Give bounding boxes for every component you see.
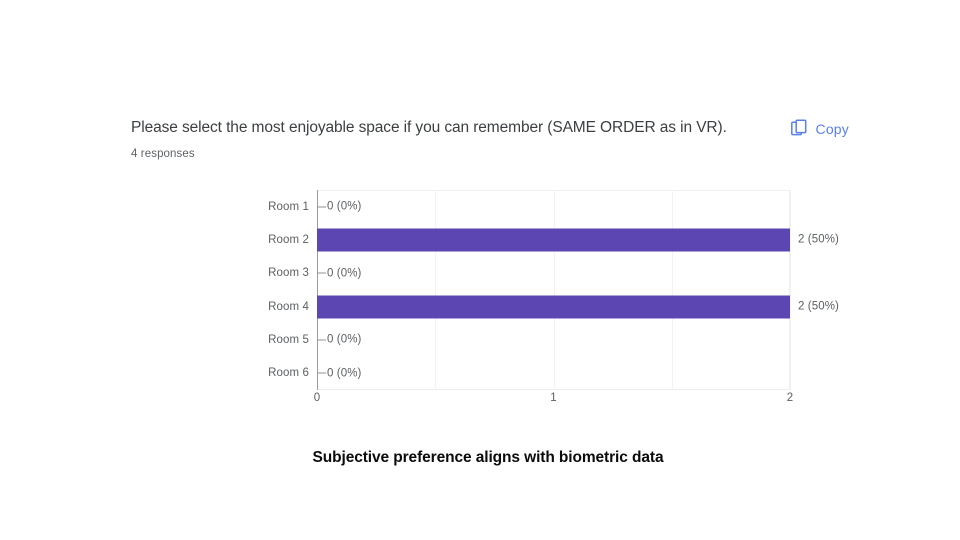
bar-row: Room 22 (50%)	[255, 223, 855, 256]
bar-row: Room 42 (50%)	[255, 290, 855, 323]
bar-value-label: 0 (0%)	[327, 201, 361, 213]
bar-row: Room 50 (0%)	[255, 323, 855, 356]
bar-value-label: 2 (50%)	[798, 234, 839, 246]
copy-icon	[791, 119, 809, 138]
question-title: Please select the most enjoyable space i…	[131, 118, 727, 138]
bar-track: 2 (50%)	[317, 228, 839, 251]
bar-rows: Room 10 (0%)Room 22 (50%)Room 30 (0%)Roo…	[255, 190, 855, 390]
bar-category-label: Room 2	[255, 234, 309, 246]
bar-value-label: 0 (0%)	[327, 367, 361, 379]
bar[interactable]	[317, 228, 790, 251]
bar-row: Room 60 (0%)	[255, 357, 855, 390]
bar-value-label: 0 (0%)	[327, 334, 361, 346]
chart-plot-area: Room 10 (0%)Room 22 (50%)Room 30 (0%)Roo…	[255, 190, 855, 390]
bar-value-label: 2 (50%)	[798, 301, 839, 313]
bar-category-label: Room 5	[255, 334, 309, 346]
bar-track: 0 (0%)	[317, 362, 361, 385]
question-header-row: Please select the most enjoyable space i…	[131, 118, 849, 138]
bar-zero-tick	[317, 273, 326, 274]
responses-count: 4 responses	[131, 148, 849, 160]
bar-category-label: Room 3	[255, 267, 309, 279]
bar-zero-tick	[317, 339, 326, 340]
x-axis-tick-label: 2	[787, 392, 793, 404]
x-axis-tick-label: 1	[550, 392, 556, 404]
bar-track: 0 (0%)	[317, 262, 361, 285]
x-axis-ticks: 012	[255, 392, 855, 410]
slide-caption: Subjective preference aligns with biomet…	[288, 446, 688, 469]
bar-row: Room 10 (0%)	[255, 190, 855, 223]
bar-track: 0 (0%)	[317, 195, 361, 218]
bar-chart: Room 10 (0%)Room 22 (50%)Room 30 (0%)Roo…	[255, 190, 855, 410]
copy-button[interactable]: Copy	[791, 119, 849, 138]
bar-value-label: 0 (0%)	[327, 267, 361, 279]
bar-category-label: Room 6	[255, 367, 309, 379]
bar-track: 0 (0%)	[317, 328, 361, 351]
bar[interactable]	[317, 295, 790, 318]
bar-track: 2 (50%)	[317, 295, 839, 318]
bar-category-label: Room 4	[255, 301, 309, 313]
question-block: Please select the most enjoyable space i…	[131, 118, 849, 160]
x-axis-tick-label: 0	[314, 392, 320, 404]
copy-button-label: Copy	[816, 121, 849, 137]
bar-zero-tick	[317, 373, 326, 374]
bar-zero-tick	[317, 206, 326, 207]
bar-row: Room 30 (0%)	[255, 257, 855, 290]
bar-category-label: Room 1	[255, 201, 309, 213]
